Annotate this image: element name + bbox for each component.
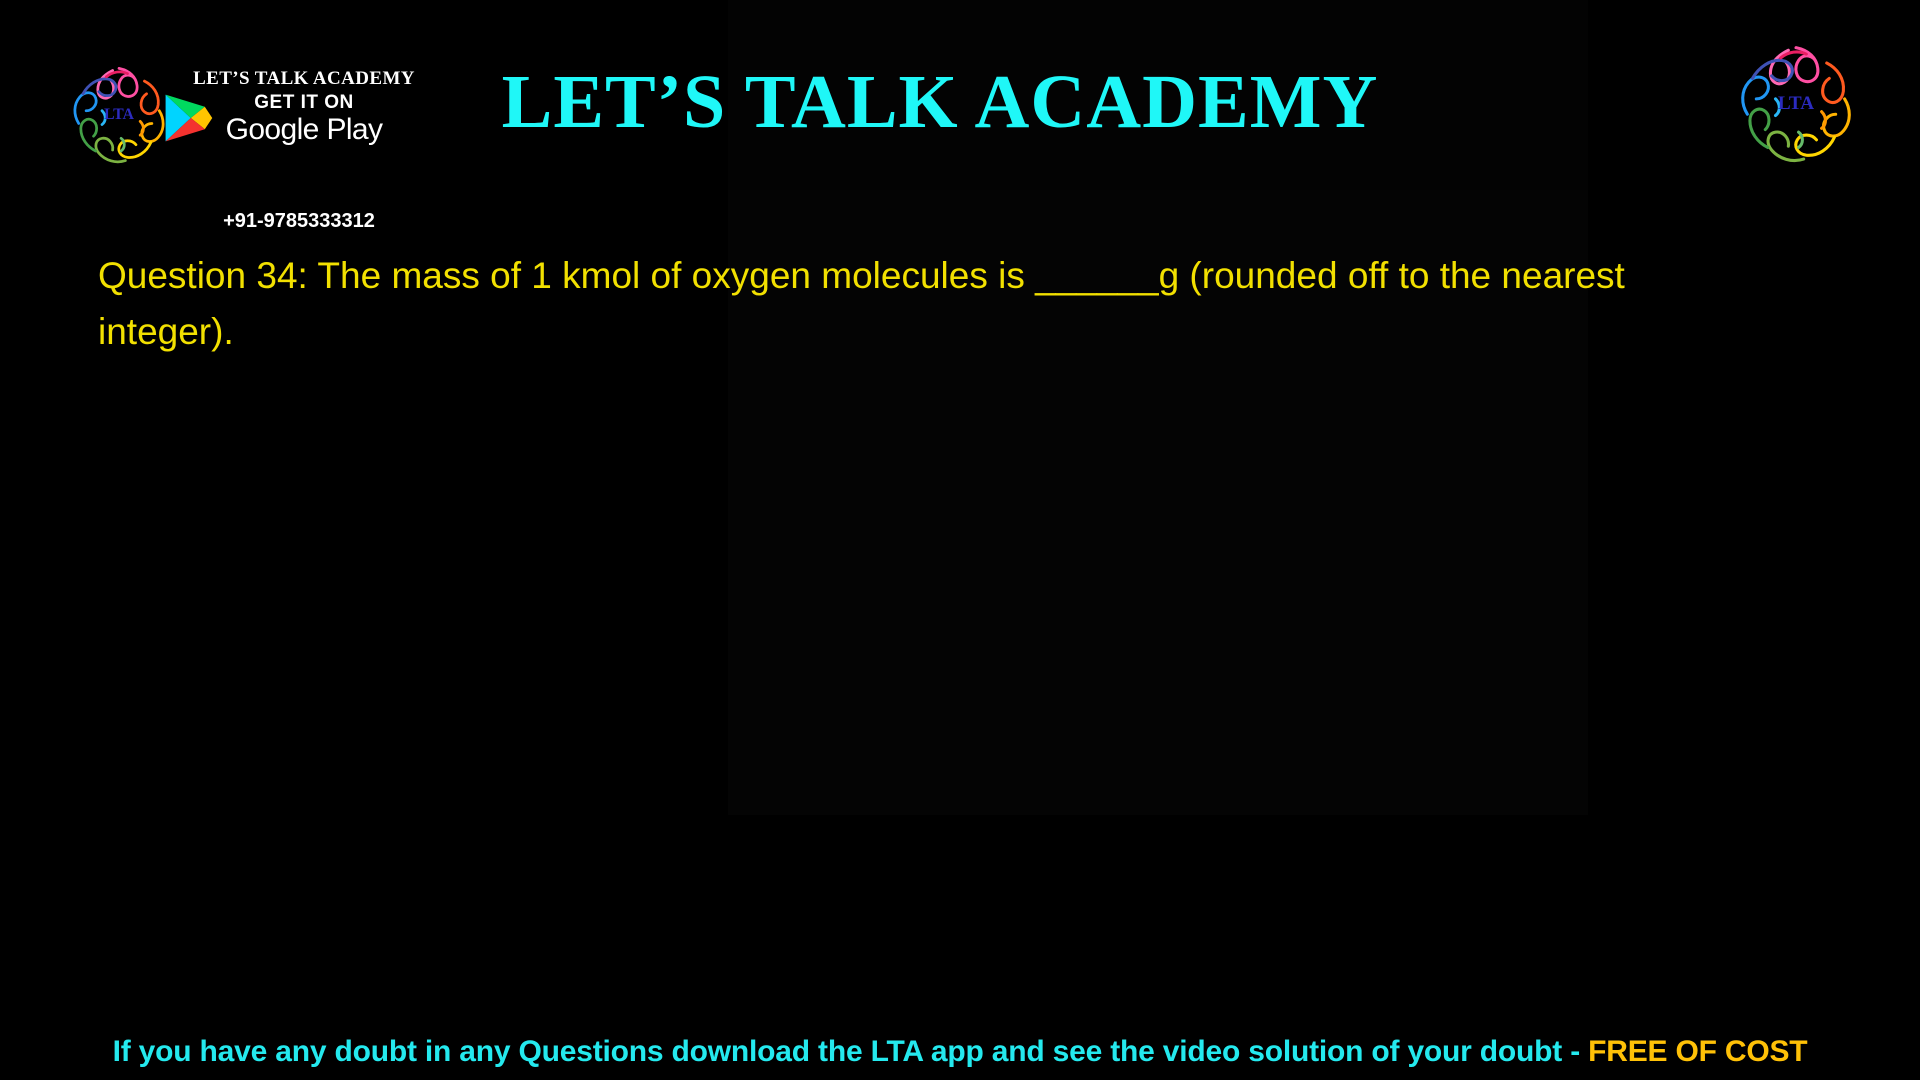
header-bar: LTA LET’S TALK ACADEMY GET IT ON Google … (0, 0, 1920, 190)
phone-number: +91-9785333312 (184, 210, 414, 233)
google-play-badge[interactable]: LET’S TALK ACADEMY GET IT ON Google Play… (160, 68, 420, 186)
logo-center-text: LTA (104, 106, 135, 123)
footer-banner: If you have any doubt in any Questions d… (0, 1030, 1920, 1080)
footer-highlight-text: FREE OF COST (1588, 1035, 1807, 1068)
footer-main-text: If you have any doubt in any Questions d… (113, 1035, 1589, 1068)
lta-logo-icon-right: LTA (1732, 40, 1860, 168)
question-text: Question 34: The mass of 1 kmol of oxyge… (98, 248, 1728, 360)
badge-store-name: Google Play (184, 114, 424, 146)
lta-logo-icon: LTA (66, 62, 172, 168)
logo-center-text-right: LTA (1778, 93, 1814, 114)
badge-get-it-on: GET IT ON (184, 91, 424, 114)
badge-academy-line: LET’S TALK ACADEMY (184, 68, 424, 90)
page-title: LET’S TALK ACADEMY (430, 60, 1450, 144)
google-play-badge-text: LET’S TALK ACADEMY GET IT ON Google Play (184, 68, 424, 146)
slide-canvas: LTA LET’S TALK ACADEMY GET IT ON Google … (0, 0, 1920, 1080)
